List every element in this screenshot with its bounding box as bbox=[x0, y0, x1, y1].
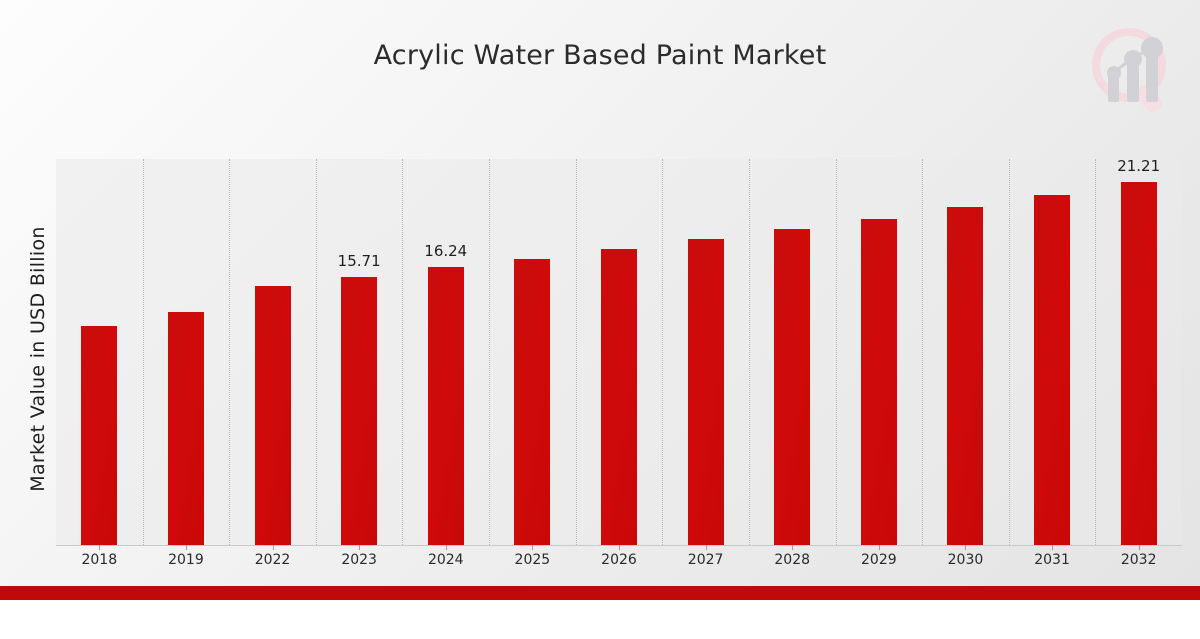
bar-2019[interactable] bbox=[168, 311, 204, 545]
x-tick-mark-2028 bbox=[792, 545, 793, 550]
bar-slot bbox=[836, 159, 923, 545]
bar-2031[interactable] bbox=[1034, 194, 1070, 545]
bar-value-label-2032: 21.21 bbox=[1117, 157, 1160, 175]
bar-2027[interactable] bbox=[688, 238, 724, 545]
market-research-logo bbox=[1086, 24, 1182, 116]
bar-2023[interactable] bbox=[341, 276, 377, 546]
x-tick-mark-2019 bbox=[186, 545, 187, 550]
x-tick-label-2030: 2030 bbox=[948, 552, 984, 568]
bar-slot bbox=[662, 159, 749, 545]
bar-slot bbox=[143, 159, 230, 545]
bar-2030[interactable] bbox=[947, 206, 983, 546]
page-title: Acrylic Water Based Paint Market bbox=[0, 40, 1200, 71]
x-tick-label-2028: 2028 bbox=[774, 552, 810, 568]
bar-slot bbox=[749, 159, 836, 545]
bar-2029[interactable] bbox=[861, 218, 897, 545]
x-tick-mark-2032 bbox=[1139, 545, 1140, 550]
x-tick-mark-2029 bbox=[879, 545, 880, 550]
x-tick-mark-2022 bbox=[273, 545, 274, 550]
bar-slot: 15.71 bbox=[316, 159, 403, 545]
bar-2032[interactable] bbox=[1121, 181, 1157, 545]
bar-slot bbox=[1009, 159, 1096, 545]
bar-slot bbox=[229, 159, 316, 545]
x-tick-label-2029: 2029 bbox=[861, 552, 897, 568]
x-tick-mark-2018 bbox=[99, 545, 100, 550]
x-tick-label-2018: 2018 bbox=[81, 552, 117, 568]
x-tick-mark-2027 bbox=[706, 545, 707, 550]
x-tick-label-2022: 2022 bbox=[255, 552, 291, 568]
x-axis-tick-labels: 2018201920222023202420252026202720282029… bbox=[56, 552, 1182, 576]
y-axis-title: Market Value in USD Billion bbox=[27, 79, 49, 639]
bar-slot bbox=[489, 159, 576, 545]
bar-slot bbox=[56, 159, 143, 545]
bar-slot bbox=[576, 159, 663, 545]
x-tick-mark-2024 bbox=[446, 545, 447, 550]
x-tick-label-2027: 2027 bbox=[688, 552, 724, 568]
x-tick-mark-2030 bbox=[965, 545, 966, 550]
x-tick-mark-2025 bbox=[532, 545, 533, 550]
bar-2028[interactable] bbox=[774, 228, 810, 545]
x-tick-label-2019: 2019 bbox=[168, 552, 204, 568]
x-tick-label-2031: 2031 bbox=[1034, 552, 1070, 568]
bar-2026[interactable] bbox=[601, 248, 637, 545]
x-tick-label-2024: 2024 bbox=[428, 552, 464, 568]
x-tick-label-2032: 2032 bbox=[1121, 552, 1157, 568]
bar-2025[interactable] bbox=[514, 258, 550, 545]
plot-area: 15.7116.2421.21 bbox=[56, 159, 1182, 545]
chart-figure: Acrylic Water Based Paint Market 15.7116… bbox=[0, 0, 1200, 600]
bar-slot: 16.24 bbox=[402, 159, 489, 545]
bar-series: 15.7116.2421.21 bbox=[56, 159, 1182, 545]
bar-2024[interactable] bbox=[428, 266, 464, 545]
x-tick-mark-2031 bbox=[1052, 545, 1053, 550]
x-tick-label-2025: 2025 bbox=[515, 552, 551, 568]
bar-slot bbox=[922, 159, 1009, 545]
bar-value-label-2024: 16.24 bbox=[424, 242, 467, 260]
x-tick-label-2026: 2026 bbox=[601, 552, 637, 568]
x-tick-mark-2026 bbox=[619, 545, 620, 550]
bar-2022[interactable] bbox=[255, 285, 291, 545]
footer-accent-bar bbox=[0, 586, 1200, 600]
x-tick-mark-2023 bbox=[359, 545, 360, 550]
bar-slot: 21.21 bbox=[1095, 159, 1182, 545]
x-tick-label-2023: 2023 bbox=[341, 552, 377, 568]
bar-value-label-2023: 15.71 bbox=[338, 252, 381, 270]
bar-2018[interactable] bbox=[81, 325, 117, 545]
